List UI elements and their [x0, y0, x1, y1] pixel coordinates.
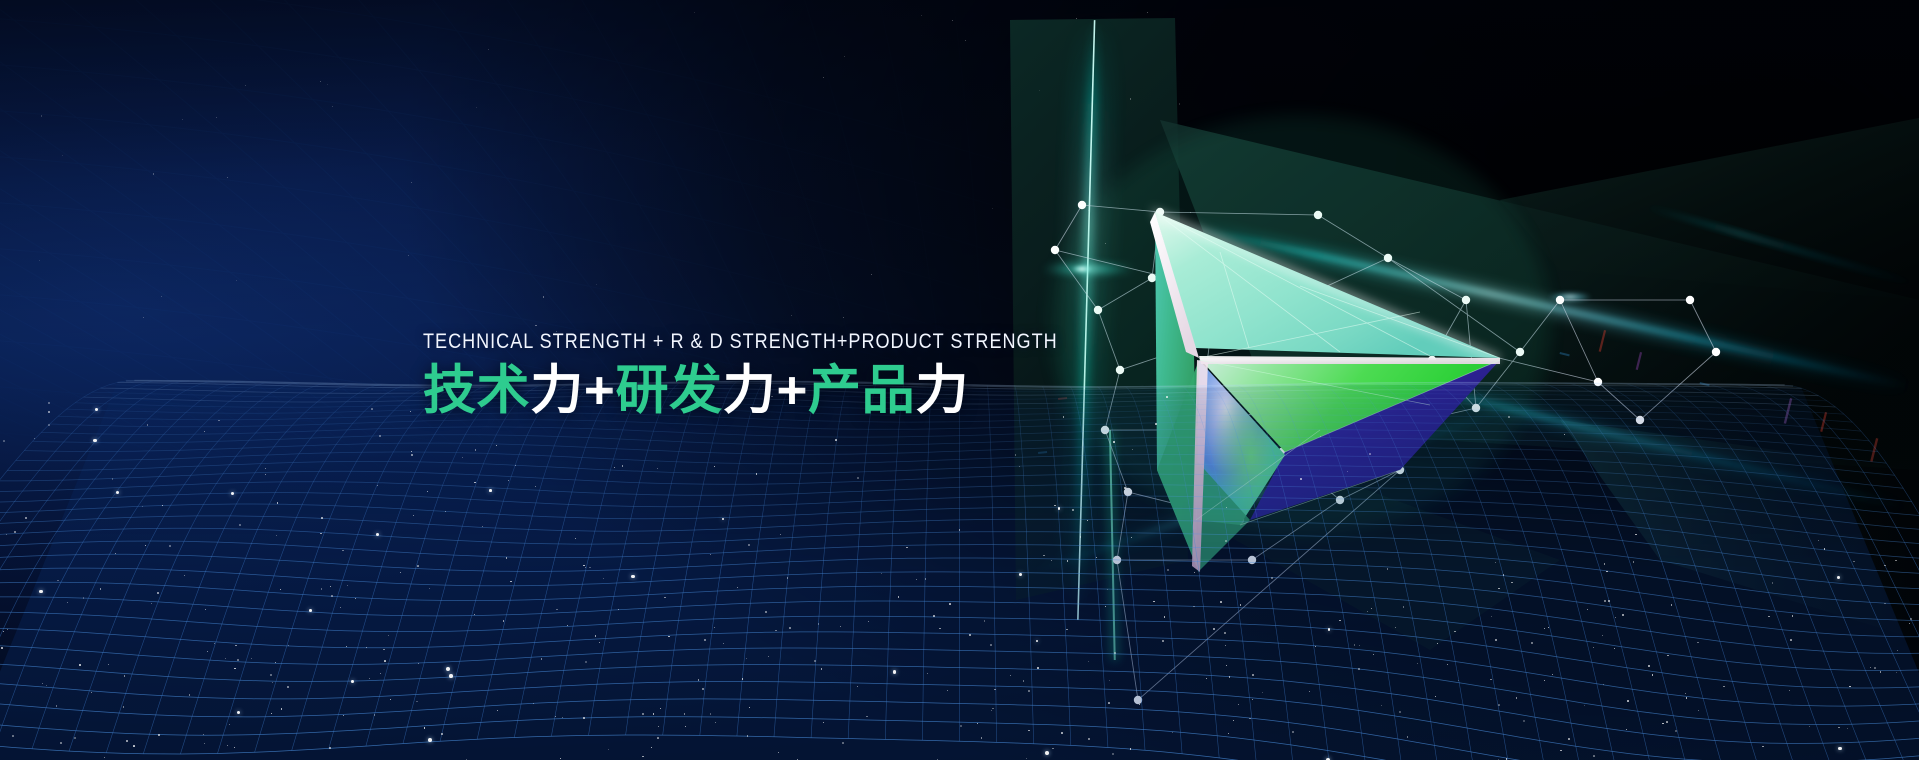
particle-dot	[245, 85, 246, 86]
particle-dot	[488, 49, 489, 50]
particle-dot	[320, 81, 321, 82]
particle-dot	[1105, 243, 1106, 244]
particle-dot	[408, 255, 409, 256]
hero-banner: TECHNICAL STRENGTH + R & D STRENGTH+PROD…	[0, 0, 1919, 760]
particle-dot	[153, 173, 154, 174]
headline-segment-7: 力	[915, 361, 969, 420]
particle-dot	[1147, 12, 1148, 13]
particle-dot	[332, 106, 333, 107]
particle-dot	[694, 12, 695, 13]
particle-dot	[1179, 103, 1180, 104]
particle-dot	[62, 155, 63, 156]
network-node	[1148, 274, 1156, 282]
particle-dot	[1190, 212, 1191, 213]
particle-dot	[1088, 210, 1089, 211]
eyebrow-text: TECHNICAL STRENGTH + R & D STRENGTH+PROD…	[423, 330, 1077, 353]
network-node	[1156, 208, 1164, 216]
headline-segment-1: 力	[530, 361, 584, 420]
beam-flare-core	[1072, 265, 1092, 273]
headline-segment-5: +	[776, 361, 808, 420]
particle-dot	[143, 317, 144, 318]
particle-dot	[236, 280, 237, 281]
particle-dot	[411, 182, 412, 183]
network-node	[1462, 296, 1470, 304]
particle-dot	[843, 317, 844, 318]
lens-flare-right	[1548, 292, 1592, 302]
particle-dot	[1076, 18, 1077, 19]
particle-dot	[965, 40, 966, 41]
network-node	[1314, 211, 1322, 219]
headline-segment-6: 产品	[808, 361, 915, 420]
particle-dot	[476, 107, 477, 108]
network-node	[1384, 254, 1392, 262]
particle-dot	[227, 177, 228, 178]
particle-dot	[791, 315, 792, 316]
particle-dot	[992, 208, 993, 209]
particle-dot	[216, 117, 217, 118]
page-title: 技术力+研发力+产品力	[423, 362, 1183, 419]
headline-segment-0: 技术	[423, 361, 530, 420]
particle-dot	[871, 274, 872, 275]
particle-dot	[1130, 98, 1131, 99]
particle-dot	[952, 20, 953, 21]
particle-dot	[161, 296, 162, 297]
headline-segment-2: +	[584, 361, 616, 420]
network-node	[1686, 296, 1694, 304]
headline-block: TECHNICAL STRENGTH + R & D STRENGTH+PROD…	[423, 330, 1183, 419]
headline-segment-4: 力	[723, 361, 777, 420]
network-node	[1094, 306, 1102, 314]
particle-dot	[596, 284, 597, 285]
particle-dot	[844, 56, 845, 57]
particle-dot	[327, 84, 328, 85]
particle-dot	[41, 115, 42, 116]
particle-dot	[921, 15, 922, 16]
particle-dot	[823, 77, 824, 78]
particle-dot	[39, 260, 40, 261]
network-node	[1051, 246, 1059, 254]
headline-segment-3: 研发	[616, 361, 723, 420]
particle-dot	[1039, 90, 1040, 91]
network-node	[1078, 201, 1086, 209]
logo-top-face	[1155, 212, 1500, 358]
particle-dot	[535, 325, 536, 326]
particle-dot	[543, 296, 544, 297]
particle-dot	[182, 119, 183, 120]
